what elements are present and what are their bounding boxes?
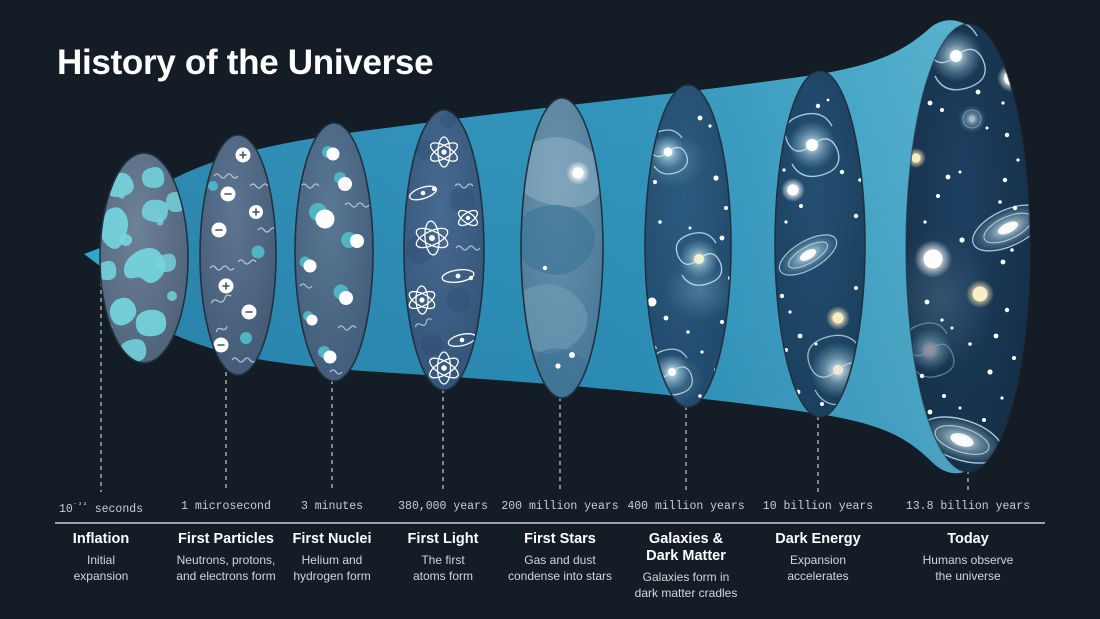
stage-block-dark-energy[interactable]: Dark EnergyExpansionaccelerates bbox=[775, 531, 860, 584]
spiral-galaxy bbox=[958, 105, 986, 133]
time-label-today: 13.8 billion years bbox=[906, 500, 1030, 513]
stage-block-first-particles[interactable]: First ParticlesNeutrons, protons,and ele… bbox=[176, 531, 275, 584]
stage-desc-first-light: The firstatoms form bbox=[408, 553, 479, 584]
stage-desc-first-nuclei: Helium andhydrogen form bbox=[293, 553, 372, 584]
stage-desc-first-stars: Gas and dustcondense into stars bbox=[508, 553, 612, 584]
axis-rule bbox=[55, 522, 1045, 524]
stage-desc-first-particles: Neutrons, protons,and electrons form bbox=[176, 553, 275, 584]
time-label-galaxies-dark-matter: 400 million years bbox=[627, 500, 744, 513]
stage-block-inflation[interactable]: InflationInitialexpansion bbox=[73, 531, 129, 584]
panel-first-light bbox=[404, 110, 484, 390]
stage-title-first-stars: First Stars bbox=[508, 531, 612, 548]
stage-block-first-light[interactable]: First LightThe firstatoms form bbox=[408, 531, 479, 584]
stage-desc-dark-energy: Expansionaccelerates bbox=[775, 553, 860, 584]
stage-title-first-light: First Light bbox=[408, 531, 479, 548]
time-label-first-stars: 200 million years bbox=[501, 500, 618, 513]
stage-title-first-particles: First Particles bbox=[176, 531, 275, 548]
stage-desc-today: Humans observethe universe bbox=[923, 553, 1014, 584]
panel-first-particles bbox=[200, 135, 276, 375]
stage-title-first-nuclei: First Nuclei bbox=[293, 531, 372, 548]
stage-block-galaxies-dark-matter[interactable]: Galaxies &Dark MatterGalaxies form indar… bbox=[635, 531, 738, 601]
time-label-dark-energy: 10 billion years bbox=[763, 500, 873, 513]
stage-desc-galaxies-dark-matter: Galaxies form indark matter cradles bbox=[635, 570, 738, 601]
time-label-first-nuclei: 3 minutes bbox=[301, 500, 363, 513]
time-label-first-light: 380,000 years bbox=[398, 500, 488, 513]
time-label-first-particles: 1 microsecond bbox=[181, 500, 271, 513]
stage-title-galaxies-dark-matter: Galaxies &Dark Matter bbox=[635, 531, 738, 565]
universe-cone-illustration bbox=[0, 0, 1100, 619]
panel-first-nuclei bbox=[295, 123, 373, 381]
time-label-inflation: 10⁻³² seconds bbox=[59, 500, 143, 516]
stage-desc-inflation: Initialexpansion bbox=[73, 553, 129, 584]
big-bang-origin-icon bbox=[84, 248, 100, 266]
stage-title-inflation: Inflation bbox=[73, 531, 129, 548]
stage-block-today[interactable]: TodayHumans observethe universe bbox=[923, 531, 1014, 584]
stage-block-first-stars[interactable]: First StarsGas and dustcondense into sta… bbox=[508, 531, 612, 584]
infographic-canvas: History of the Universe bbox=[0, 0, 1100, 619]
stage-block-first-nuclei[interactable]: First NucleiHelium andhydrogen form bbox=[293, 531, 372, 584]
stage-title-dark-energy: Dark Energy bbox=[775, 531, 860, 548]
panel-inflation bbox=[96, 153, 188, 363]
stage-title-today: Today bbox=[923, 531, 1014, 548]
